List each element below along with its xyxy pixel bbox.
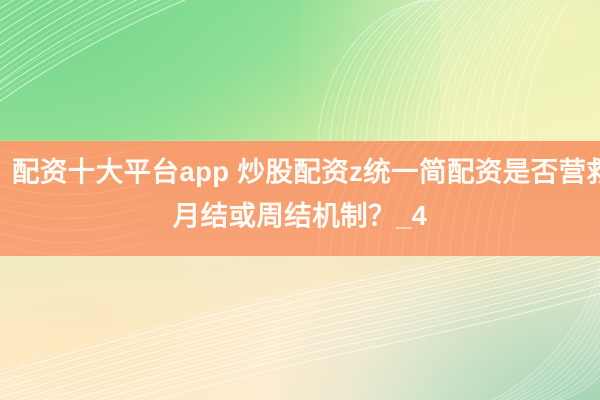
banner-title-line-1: 配资十大平台app 炒股配资z统一简配资是否营救: [12, 150, 588, 194]
banner-title-line-2: 月结或周结机制？_4: [12, 194, 588, 238]
poster-canvas: 配资十大平台app 炒股配资z统一简配资是否营救 月结或周结机制？_4: [0, 0, 600, 400]
banner-title: 配资十大平台app 炒股配资z统一简配资是否营救 月结或周结机制？_4: [0, 150, 600, 238]
